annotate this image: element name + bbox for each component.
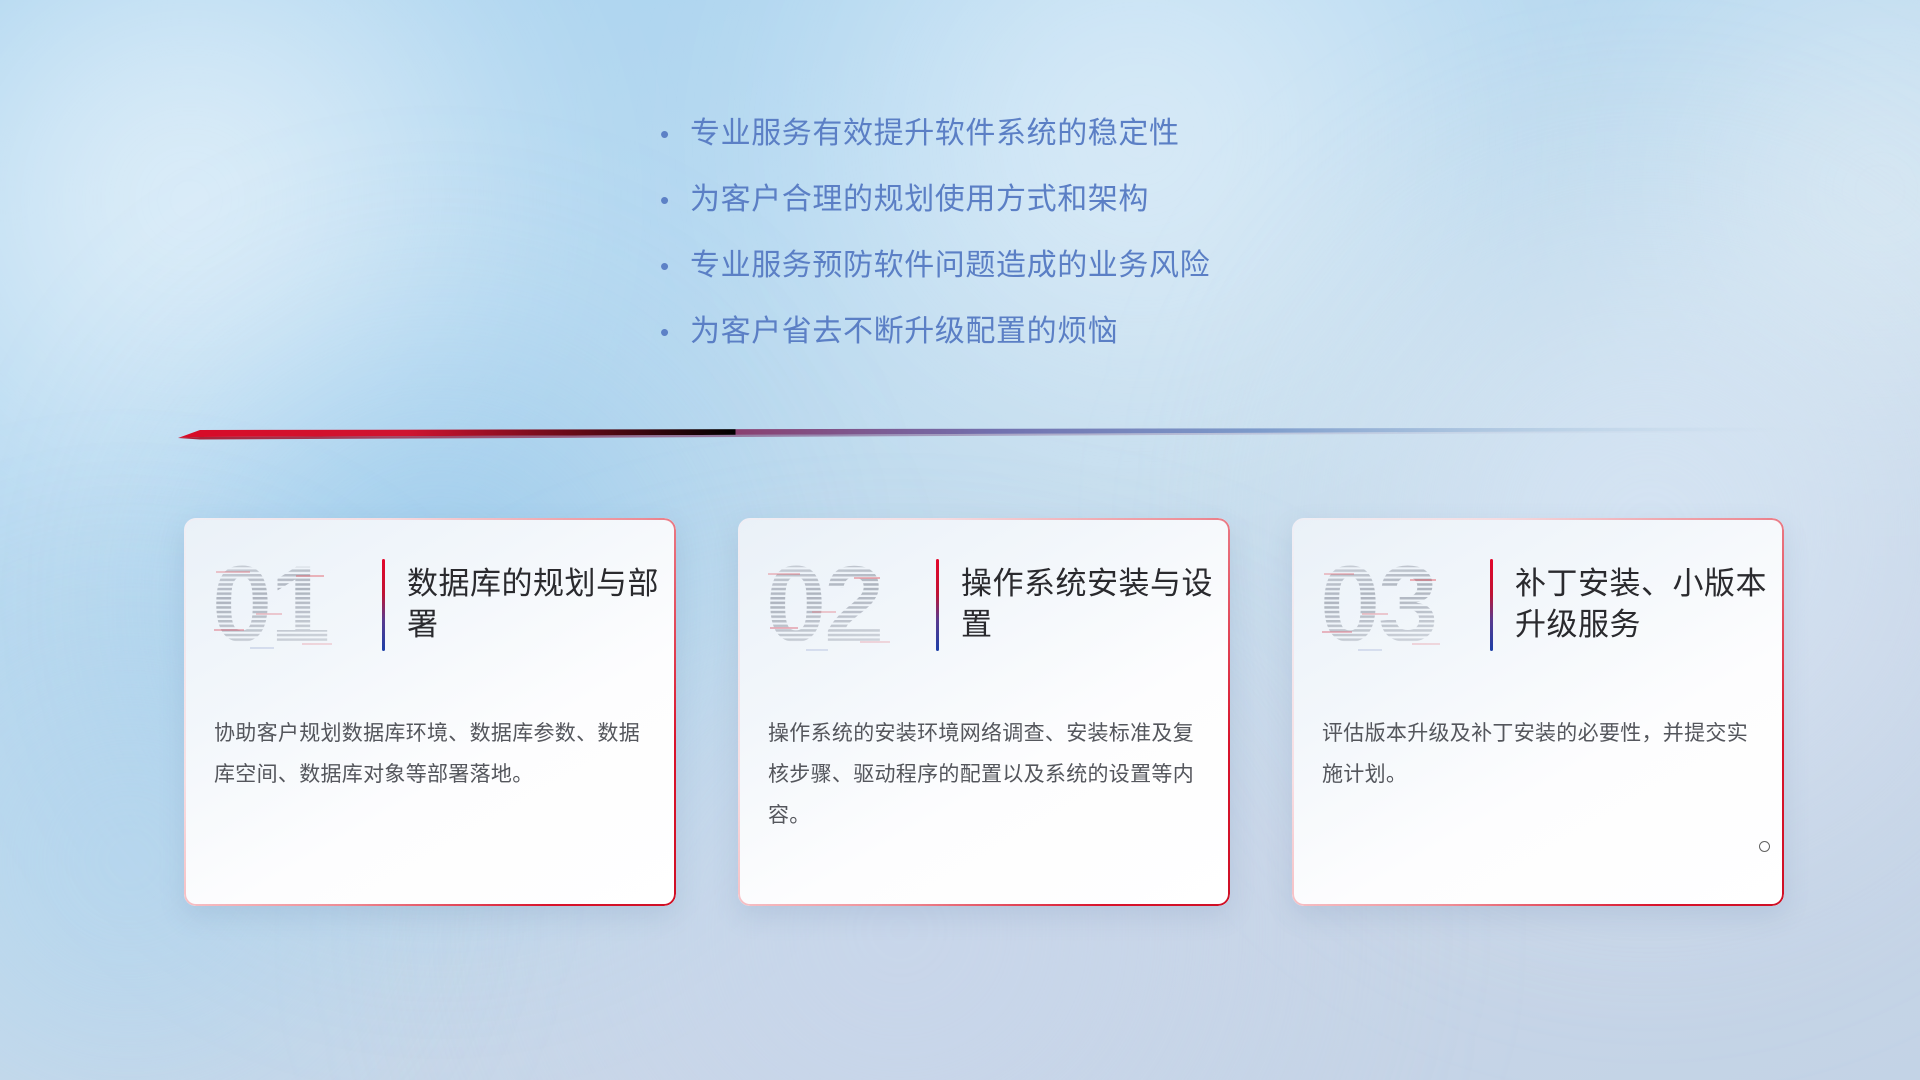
bullet-marker-icon: • bbox=[660, 319, 690, 345]
background-glow-top-left bbox=[0, 0, 640, 580]
striped-number-icon: 01 bbox=[210, 551, 378, 659]
svg-text:01: 01 bbox=[212, 551, 328, 659]
striped-number-icon: 03 bbox=[1318, 551, 1486, 659]
card-number-graphic: 02 bbox=[764, 551, 932, 659]
tapered-accent-divider bbox=[178, 424, 1818, 446]
card-header: 02 操作系统安装与设置 bbox=[738, 546, 1230, 664]
card-header: 01 数据库的规划与部署 bbox=[184, 546, 676, 664]
service-card[interactable]: 02 操作系统安装与设置 操作系统的安装环 bbox=[738, 518, 1230, 906]
divider-shape-icon bbox=[178, 424, 1818, 446]
list-item: • 专业服务预防软件问题造成的业务风险 bbox=[660, 240, 1520, 306]
card-header: 03 补丁安装、小版本升级服务 bbox=[1292, 546, 1784, 664]
bullet-text: 专业服务预防软件问题造成的业务风险 bbox=[690, 240, 1210, 284]
card-divider-rule bbox=[382, 559, 385, 651]
card-number-graphic: 01 bbox=[210, 551, 378, 659]
bullet-marker-icon: • bbox=[660, 121, 690, 147]
card-description: 协助客户规划数据库环境、数据库参数、数据库空间、数据库对象等部署落地。 bbox=[214, 714, 646, 796]
list-item: • 为客户合理的规划使用方式和架构 bbox=[660, 174, 1520, 240]
card-title: 操作系统安装与设置 bbox=[961, 564, 1230, 646]
striped-number-icon: 02 bbox=[764, 551, 932, 659]
card-divider-rule bbox=[1490, 559, 1493, 651]
bullet-marker-icon: • bbox=[660, 187, 690, 213]
card-divider-rule bbox=[936, 559, 939, 651]
service-card-row: 01 数据库的规划与部署 协助客户规划数据 bbox=[184, 518, 1824, 906]
card-description: 操作系统的安装环境网络调查、安装标准及复核步骤、驱动程序的配置以及系统的设置等内… bbox=[768, 714, 1200, 837]
service-card[interactable]: 03 补丁安装、小版本升级服务 评估版本升 bbox=[1292, 518, 1784, 906]
bullet-marker-icon: • bbox=[660, 253, 690, 279]
card-title: 数据库的规划与部署 bbox=[407, 564, 676, 646]
list-item: • 专业服务有效提升软件系统的稳定性 bbox=[660, 108, 1520, 174]
bullet-text: 专业服务有效提升软件系统的稳定性 bbox=[690, 108, 1180, 152]
list-item: • 为客户省去不断升级配置的烦恼 bbox=[660, 306, 1520, 372]
benefits-bullet-list: • 专业服务有效提升软件系统的稳定性 • 为客户合理的规划使用方式和架构 • 专… bbox=[660, 108, 1520, 372]
card-title: 补丁安装、小版本升级服务 bbox=[1515, 564, 1784, 646]
card-number-graphic: 03 bbox=[1318, 551, 1486, 659]
svg-text:03: 03 bbox=[1320, 551, 1436, 659]
card-description: 评估版本升级及补丁安装的必要性，并提交实施计划。 bbox=[1322, 714, 1754, 796]
small-circle-marker-icon bbox=[1759, 841, 1770, 852]
bullet-text: 为客户省去不断升级配置的烦恼 bbox=[690, 306, 1118, 350]
service-card[interactable]: 01 数据库的规划与部署 协助客户规划数据 bbox=[184, 518, 676, 906]
slide-stage: • 专业服务有效提升软件系统的稳定性 • 为客户合理的规划使用方式和架构 • 专… bbox=[0, 0, 1920, 1080]
bullet-text: 为客户合理的规划使用方式和架构 bbox=[690, 174, 1149, 218]
